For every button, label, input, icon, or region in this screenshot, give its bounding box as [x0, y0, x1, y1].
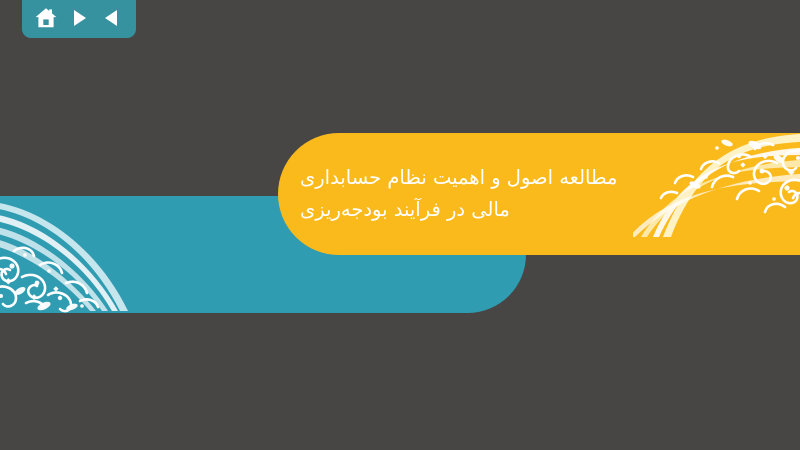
- teal-arabesque-ornament: [0, 203, 162, 313]
- home-button[interactable]: [33, 5, 59, 31]
- previous-button[interactable]: [99, 5, 125, 31]
- navigation-bar: [22, 0, 136, 38]
- next-icon: [68, 7, 90, 29]
- slide-title: مطالعه اصول و اهمیت نظام حسابداری مالی د…: [300, 133, 690, 255]
- slide-canvas: مطالعه اصول و اهمیت نظام حسابداری مالی د…: [0, 0, 800, 450]
- next-button[interactable]: [66, 5, 92, 31]
- slide-title-line-2: مالی در فرآیند بودجه‌ریزی: [300, 194, 510, 226]
- slide-title-line-1: مطالعه اصول و اهمیت نظام حسابداری: [300, 162, 617, 194]
- home-icon: [34, 6, 58, 30]
- previous-icon: [101, 7, 123, 29]
